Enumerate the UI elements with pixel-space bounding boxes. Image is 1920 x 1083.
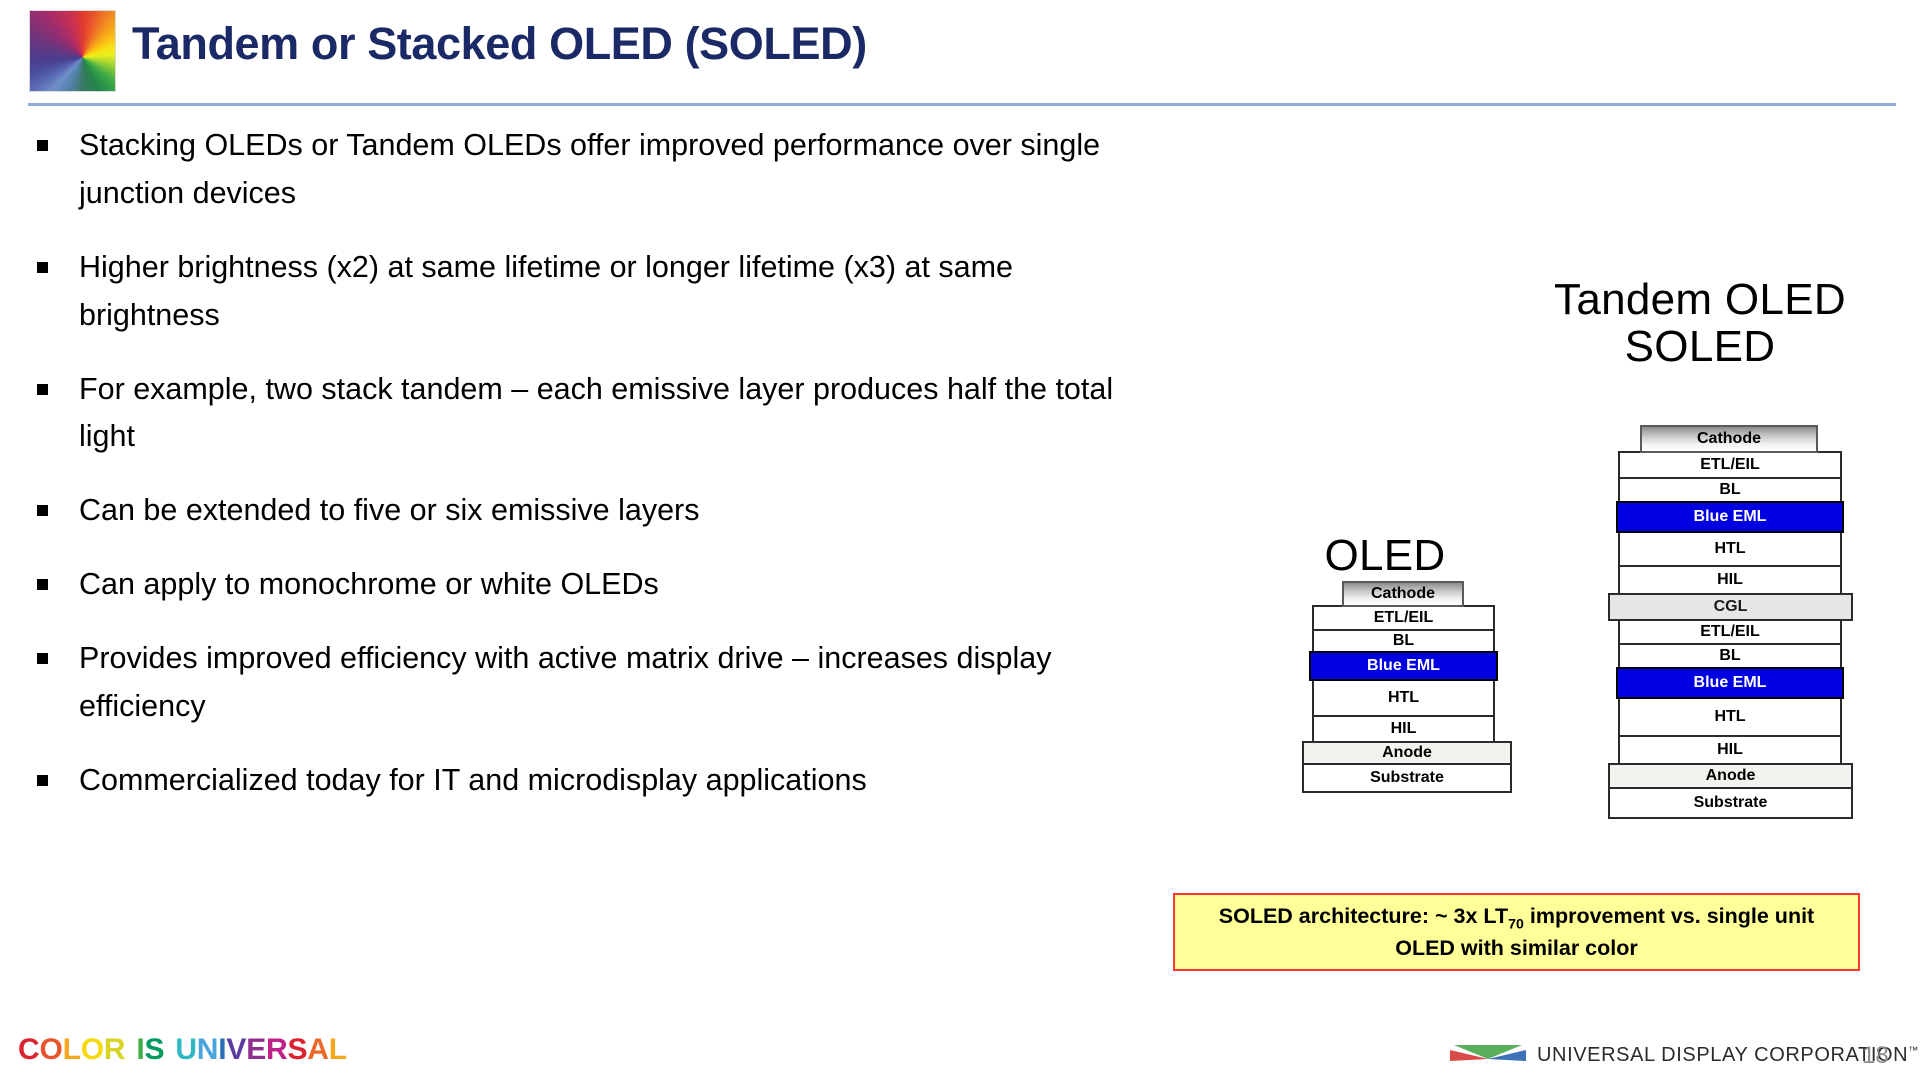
tagline-letter: R — [104, 1033, 125, 1067]
stack-layer-etl-eil: ETL/EIL — [1312, 605, 1495, 631]
stack-layer-cathode: Cathode — [1342, 581, 1464, 607]
stack-layer-etl-eil: ETL/EIL — [1618, 451, 1842, 479]
stack-layer-bl: BL — [1618, 643, 1842, 669]
bullet-marker-icon — [37, 140, 48, 151]
tagline-letter: A — [307, 1033, 328, 1067]
stack-layer-blue-eml: Blue EML — [1309, 651, 1498, 681]
color-burst-icon — [30, 11, 115, 91]
single-oled-stack-diagram: CathodeETL/EILBLBlue EMLHTLHILAnodeSubst… — [1302, 583, 1562, 797]
tandem-title-line2: SOLED — [1490, 323, 1910, 370]
stack-layer-etl-eil: ETL/EIL — [1618, 619, 1842, 645]
bullet-list: Stacking OLEDs or Tandem OLEDs offer imp… — [30, 122, 1180, 831]
tagline-letter: I — [136, 1033, 144, 1067]
bullet-text: Higher brightness (x2) at same lifetime … — [79, 244, 1139, 340]
stack-layer-htl: HTL — [1312, 679, 1495, 717]
bullet-item: Provides improved efficiency with active… — [30, 635, 1180, 731]
tandem-oled-stack-diagram: CathodeETL/EILBLBlue EMLHTLHILCGLETL/EIL… — [1608, 427, 1868, 823]
udc-company-name-text: UNIVERSAL DISPLAY CORPORATION — [1537, 1044, 1908, 1066]
stack-layer-cgl: CGL — [1608, 593, 1853, 621]
stack-layer-blue-eml: Blue EML — [1616, 501, 1844, 533]
bullet-text: Stacking OLEDs or Tandem OLEDs offer imp… — [79, 122, 1139, 218]
callout-line1-pre: SOLED architecture: ~ 3x LT — [1219, 904, 1508, 928]
tagline-letter: L — [329, 1033, 347, 1067]
bullet-item: For example, two stack tandem – each emi… — [30, 366, 1180, 462]
trademark-symbol: ™ — [1908, 1045, 1918, 1056]
tagline-letter: R — [266, 1033, 287, 1067]
stack-layer-htl: HTL — [1618, 531, 1842, 567]
tagline-letter: L — [63, 1033, 81, 1067]
oled-stack-title: OLED — [1245, 532, 1525, 579]
bullet-item: Higher brightness (x2) at same lifetime … — [30, 244, 1180, 340]
tandem-stack-title: Tandem OLED SOLED — [1490, 276, 1910, 370]
stack-layer-anode: Anode — [1608, 763, 1853, 789]
stack-layer-anode: Anode — [1302, 741, 1512, 765]
tagline-letter: E — [246, 1033, 266, 1067]
bullet-marker-icon — [37, 653, 48, 664]
tandem-title-line1: Tandem OLED — [1490, 276, 1910, 323]
stack-layer-hil: HIL — [1618, 565, 1842, 595]
callout-line1-post: improvement vs. single unit — [1524, 904, 1814, 928]
bullet-item: Can apply to monochrome or white OLEDs — [30, 561, 1180, 609]
callout-line1-subscript: 70 — [1508, 916, 1524, 932]
tagline-letter: O — [39, 1033, 62, 1067]
tagline-letter: S — [287, 1033, 307, 1067]
bullet-text: For example, two stack tandem – each emi… — [79, 366, 1139, 462]
bullet-marker-icon — [37, 262, 48, 273]
stack-layer-substrate: Substrate — [1608, 787, 1853, 819]
soled-architecture-callout: SOLED architecture: ~ 3x LT70 improvemen… — [1173, 893, 1860, 971]
callout-line2: OLED with similar color — [1395, 936, 1638, 960]
header-divider — [28, 103, 1896, 106]
tagline-letter: U — [175, 1033, 196, 1067]
tagline-letter: O — [81, 1033, 104, 1067]
bullet-marker-icon — [37, 579, 48, 590]
stack-layer-hil: HIL — [1618, 735, 1842, 765]
bullet-marker-icon — [37, 775, 48, 786]
bullet-text: Can be extended to five or six emissive … — [79, 487, 699, 535]
stack-layer-bl: BL — [1618, 477, 1842, 503]
bullet-text: Commercialized today for IT and microdis… — [79, 757, 867, 805]
stack-layer-bl: BL — [1312, 629, 1495, 653]
bullet-marker-icon — [37, 384, 48, 395]
tagline-letter: C — [18, 1033, 39, 1067]
bullet-item: Can be extended to five or six emissive … — [30, 487, 1180, 535]
bullet-marker-icon — [37, 505, 48, 516]
bullet-text: Can apply to monochrome or white OLEDs — [79, 561, 659, 609]
color-is-universal-tagline: COLORISUNIVERSAL — [18, 1033, 347, 1067]
slide-header: Tandem or Stacked OLED (SOLED) — [0, 0, 1920, 112]
tagline-letter: V — [226, 1033, 246, 1067]
stack-layer-blue-eml: Blue EML — [1616, 667, 1844, 699]
bullet-item: Stacking OLEDs or Tandem OLEDs offer imp… — [30, 122, 1180, 218]
page-title: Tandem or Stacked OLED (SOLED) — [132, 18, 867, 70]
stack-layer-hil: HIL — [1312, 715, 1495, 743]
bullet-item: Commercialized today for IT and microdis… — [30, 757, 1180, 805]
udc-bowtie-icon — [1448, 1040, 1528, 1066]
page-number: 18 — [1862, 1042, 1889, 1070]
stack-layer-substrate: Substrate — [1302, 763, 1512, 793]
stack-layer-cathode: Cathode — [1640, 425, 1818, 453]
tagline-letter: S — [145, 1033, 165, 1067]
tagline-letter: N — [197, 1033, 218, 1067]
stack-layer-htl: HTL — [1618, 697, 1842, 737]
tagline-letter: I — [218, 1033, 226, 1067]
bullet-text: Provides improved efficiency with active… — [79, 635, 1139, 731]
